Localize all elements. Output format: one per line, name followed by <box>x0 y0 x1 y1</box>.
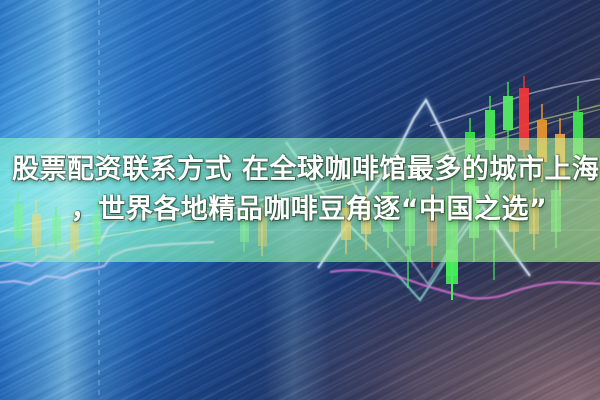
headline-line-2: ，世界各地精品咖啡豆角逐“中国之选” <box>12 190 588 230</box>
headline-line-1: 股票配资联系方式 在全球咖啡馆最多的城市上海 <box>12 150 588 190</box>
stock-news-banner: 股票配资联系方式 在全球咖啡馆最多的城市上海 ，世界各地精品咖啡豆角逐“中国之选… <box>0 0 600 400</box>
headline: 股票配资联系方式 在全球咖啡馆最多的城市上海 ，世界各地精品咖啡豆角逐“中国之选… <box>0 150 600 230</box>
moving-average-magenta <box>330 270 600 298</box>
